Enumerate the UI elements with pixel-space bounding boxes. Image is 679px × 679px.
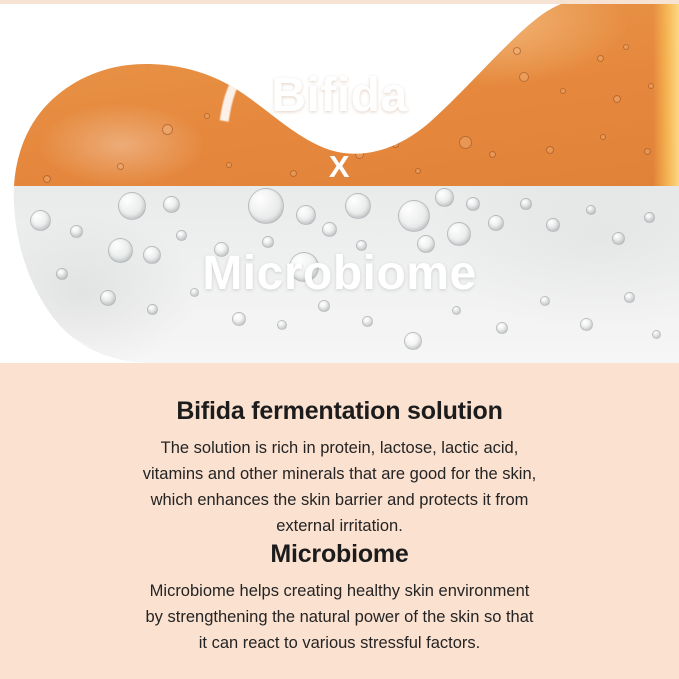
gel-bubble-icon <box>489 151 496 158</box>
gel-bubble-icon <box>385 75 391 81</box>
gel-bubble-icon <box>277 320 287 330</box>
gel-bubble-icon <box>463 27 475 39</box>
gel-bubble-icon <box>644 148 651 155</box>
gel-bubble-icon <box>415 168 421 174</box>
gel-bubble-icon <box>586 205 596 215</box>
gel-bubble-icon <box>232 312 246 326</box>
gel-bubble-icon <box>226 162 232 168</box>
gel-bubble-icon <box>56 268 68 280</box>
gel-bubble-icon <box>100 290 116 306</box>
info-body-microbiome: Microbiome helps creating healthy skin e… <box>145 578 535 656</box>
info-body-bifida: The solution is rich in protein, lactose… <box>140 435 540 539</box>
gel-bubble-icon <box>452 306 461 315</box>
gel-bubble-icon <box>176 230 187 241</box>
gel-bubble-icon <box>108 238 133 263</box>
gel-bubble-icon <box>600 134 606 140</box>
gel-bubble-icon <box>623 44 629 50</box>
gel-bubble-icon <box>268 78 275 85</box>
gel-bubble-icon <box>214 242 229 257</box>
gel-bubble-icon <box>256 24 265 33</box>
gel-bubble-icon <box>540 296 550 306</box>
gel-bubble-icon <box>434 52 440 58</box>
gel-bubble-icon <box>362 316 373 327</box>
gel-bubble-icon <box>624 292 635 303</box>
gel-bubble-icon <box>190 288 199 297</box>
gel-bubble-icon <box>648 83 654 89</box>
gel-bubble-icon <box>248 188 284 224</box>
info-block-microbiome: Microbiome Microbiome helps creating hea… <box>0 539 679 656</box>
gel-bubble-icon <box>387 20 394 27</box>
gel-bubble-icon <box>447 222 471 246</box>
info-heading-microbiome: Microbiome <box>0 539 679 569</box>
gel-bubble-icon <box>597 55 604 62</box>
gel-bubble-icon <box>290 170 297 177</box>
gel-bubble-icon <box>519 72 529 82</box>
gel-bubble-icon <box>204 113 210 119</box>
gel-bubble-icon <box>392 141 399 148</box>
info-block-bifida: Bifida fermentation solution The solutio… <box>0 396 679 539</box>
gel-bubble-icon <box>546 146 554 154</box>
gel-bubble-icon <box>652 330 661 339</box>
gel-bubble-icon <box>612 232 625 245</box>
gel-bubble-icon <box>345 193 371 219</box>
gel-bubble-icon <box>644 212 655 223</box>
gel-bubble-icon <box>318 300 330 312</box>
gel-bubble-icon <box>318 137 325 144</box>
gel-bubble-icon <box>322 222 337 237</box>
gel-bubble-icon <box>488 215 504 231</box>
gel-bubble-icon <box>398 200 430 232</box>
hero-image: Bifida X Microbiome <box>0 0 679 363</box>
gel-bubble-icon <box>162 124 173 135</box>
gel-bubble-icon <box>147 304 158 315</box>
gel-bubble-icon <box>70 225 83 238</box>
info-section: Bifida fermentation solution The solutio… <box>0 363 679 679</box>
gel-bubble-icon <box>580 318 593 331</box>
gel-bubble-icon <box>546 218 560 232</box>
gel-bubble-icon <box>435 188 454 207</box>
gel-bubble-icon <box>613 95 621 103</box>
gel-bubble-icon <box>117 163 124 170</box>
gel-bubble-icon <box>30 210 51 231</box>
gel-bubble-icon <box>143 246 161 264</box>
gel-bubble-icon <box>296 205 316 225</box>
gel-bubble-icon <box>262 236 274 248</box>
info-heading-bifida: Bifida fermentation solution <box>0 396 679 426</box>
gel-bubble-icon <box>466 197 480 211</box>
gel-bubble-icon <box>163 196 180 213</box>
gel-bubble-icon <box>355 150 364 159</box>
gel-bubble-icon <box>496 322 508 334</box>
product-ingredient-panel: Bifida X Microbiome Bifida fermentation … <box>0 0 679 679</box>
gel-bubble-icon <box>560 88 566 94</box>
gel-bubble-icon <box>404 332 422 350</box>
gel-bubble-icon <box>43 175 51 183</box>
gel-bubble-icon <box>459 136 472 149</box>
gel-bubble-icon <box>118 192 146 220</box>
gel-bubble-icon <box>520 198 532 210</box>
gel-bubble-icon <box>356 240 367 251</box>
gel-bubble-icon <box>289 252 319 282</box>
gel-bubble-icon <box>513 47 521 55</box>
gel-blob-shape <box>0 0 679 363</box>
gel-bubble-icon <box>417 235 435 253</box>
top-accent-strip <box>0 0 679 4</box>
